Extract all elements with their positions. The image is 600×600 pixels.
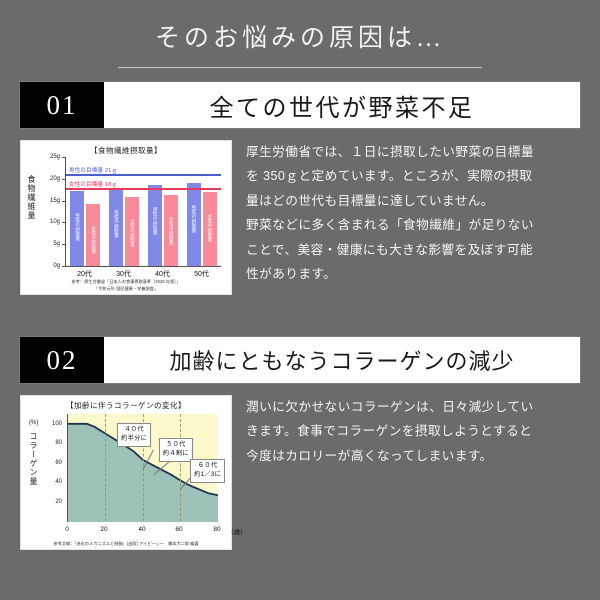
infographic-page: そのお悩みの原因は… 01 全ての世代が野菜不足 【食物繊維摂取量】 食物繊維量… <box>0 0 600 600</box>
bar-female-40s: 女性の摂取量 <box>164 195 178 266</box>
collagen-chart-plot: 100 80 60 40 20 ４０代 約半分に <box>67 414 217 522</box>
collagen-ytick-40: 40 <box>55 479 62 485</box>
collagen-xtick-40: 40 <box>138 526 145 533</box>
collagen-callout-50s-line1: ５０代 <box>163 441 189 450</box>
reference-line-female: 女性の目標量 18ｇ <box>66 188 221 190</box>
fiber-ytick-10: 10g <box>50 219 60 225</box>
collagen-ytick-100: 100 <box>52 421 62 427</box>
page-title: そのお悩みの原因は… <box>0 24 600 54</box>
reference-line-female-label: 女性の目標量 18ｇ <box>69 180 117 188</box>
collagen-yunit: (%) <box>29 420 38 426</box>
section-01-number: 01 <box>20 82 104 128</box>
bar-male-20s: 男性の摂取量 <box>70 191 84 266</box>
header-divider <box>118 67 482 68</box>
fiber-xtick-40s: 40代 <box>143 269 182 279</box>
fiber-ytick-5: 5g <box>53 241 60 247</box>
fiber-xtick-30s: 30代 <box>104 269 143 279</box>
fiber-ytick-15: 15g <box>50 198 60 204</box>
bar-label-male: 男性の摂取量 <box>75 213 80 241</box>
section-01-line-3: 量はどの世代も目標量に達していません。 <box>246 189 580 213</box>
collagen-chart-title: 【加齢に伴うコラーゲンの変化】 <box>21 400 231 411</box>
collagen-chart-ylabel: コラーゲン量 <box>29 432 37 486</box>
fiber-source-line2: 「令和元年 国民健康・栄養調査」 <box>21 286 231 292</box>
fiber-xtick-50s: 50代 <box>182 269 221 279</box>
section-01-text: 厚生労働省では、１日に摂取したい野菜の目標量 を 350ｇと定めています。ところ… <box>246 140 580 286</box>
section-01-line-4: 野菜などに多く含まれる「食物繊維」が足りない <box>246 213 580 237</box>
fiber-xtick-20s: 20代 <box>65 269 104 279</box>
section-01-heading: 01 全ての世代が野菜不足 <box>20 82 580 128</box>
section-02-line-1: 潤いに欠かせないコラーゲンは、日々減少してい <box>246 395 580 419</box>
collagen-callout-60s-line2: 約1／3に <box>194 471 221 480</box>
reference-line-male-label: 男性の目標量 21ｇ <box>69 166 117 174</box>
bar-female-50s: 女性の摂取量 <box>203 192 217 266</box>
section-01-line-6: 性があります。 <box>246 262 580 286</box>
section-02-text: 潤いに欠かせないコラーゲンは、日々減少してい きます。食事でコラーゲンを摂取しよ… <box>246 395 580 468</box>
collagen-dash-20 <box>105 414 106 521</box>
fiber-bar-group-40s: 男性の摂取量 女性の摂取量 <box>144 157 183 266</box>
reference-line-male: 男性の目標量 21ｇ <box>66 174 221 176</box>
collagen-xtick-60: 60 <box>175 526 182 533</box>
section-01-line-5: ことで、美容・健康にも大きな影響を及ぼす可能 <box>246 238 580 262</box>
section-01-title: 全ての世代が野菜不足 <box>104 82 580 128</box>
bar-label-male: 男性の摂取量 <box>191 205 196 233</box>
fiber-chart-plot: 0g 5g 10g 15g 20g 25g 男性の摂取量 女性の摂取量 <box>65 157 221 267</box>
bar-label-female: 女性の摂取量 <box>207 214 212 242</box>
bar-label-male: 男性の摂取量 <box>153 207 158 235</box>
collagen-ytick-80: 80 <box>55 440 62 446</box>
fiber-tickmark <box>62 266 66 267</box>
bar-male-40s: 男性の摂取量 <box>148 185 162 266</box>
collagen-xtick-20: 20 <box>100 526 107 533</box>
fiber-xaxis-labels: 20代 30代 40代 50代 <box>65 269 221 279</box>
bar-female-30s: 女性の摂取量 <box>125 197 139 266</box>
fiber-chart-source: 参考：厚生労働省「日本人の食事摂取基準（2020 年版）」 「令和元年 国民健康… <box>21 279 231 292</box>
section-01-body: 【食物繊維摂取量】 食物繊維量 0g 5g 10g 15g 20g 25g <box>20 140 580 295</box>
page-header: そのお悩みの原因は… <box>0 0 600 68</box>
collagen-callout-60s-line1: ６０代 <box>194 462 221 471</box>
section-02-title: 加齢にともなうコラーゲンの減少 <box>104 337 580 383</box>
bar-label-male: 男性の摂取量 <box>114 210 119 238</box>
section-01-line-1: 厚生労働省では、１日に摂取したい野菜の目標量 <box>246 140 580 164</box>
section-01-line-2: を 350ｇと定めています。ところが、実際の摂取 <box>246 164 580 188</box>
bar-label-female: 女性の摂取量 <box>130 219 135 247</box>
collagen-callout-60s: ６０代 約1／3に <box>190 459 225 483</box>
collagen-xtick-80: 80 <box>213 526 220 533</box>
fiber-intake-chart: 【食物繊維摂取量】 食物繊維量 0g 5g 10g 15g 20g 25g <box>20 140 232 295</box>
collagen-chart-source: 参考文献：「老化のメカニズムと制御」(出版) アイピーシー 橋本大二郎 編著 <box>21 541 231 547</box>
collagen-xtick-0: 0 <box>65 526 69 533</box>
collagen-decline-chart: 【加齢に伴うコラーゲンの変化】 (%) コラーゲン量 100 80 60 40 … <box>20 395 232 550</box>
bar-male-30s: 男性の摂取量 <box>109 188 123 266</box>
section-02-heading: 02 加齢にともなうコラーゲンの減少 <box>20 337 580 383</box>
bar-female-20s: 女性の摂取量 <box>86 204 100 266</box>
section-02-number: 02 <box>20 337 104 383</box>
collagen-ytick-20: 20 <box>55 499 62 505</box>
fiber-ytick-25: 25g <box>50 154 60 160</box>
fiber-ytick-0: 0g <box>53 263 60 269</box>
collagen-ytick-60: 60 <box>55 460 62 466</box>
fiber-bar-group-50s: 男性の摂取量 女性の摂取量 <box>182 157 221 266</box>
collagen-callout-50s: ５０代 約４割に <box>159 438 193 462</box>
collagen-callout-40s-line2: 約半分に <box>121 435 147 444</box>
bar-label-female: 女性の摂取量 <box>169 217 174 245</box>
collagen-callout-50s-line2: 約４割に <box>163 450 189 459</box>
fiber-chart-ylabel: 食物繊維量 <box>27 175 35 220</box>
section-02-line-3: 今度はカロリーが高くなってしまいます。 <box>246 444 580 468</box>
collagen-callout-40s: ４０代 約半分に <box>117 423 151 447</box>
bar-label-female: 女性の摂取量 <box>91 226 96 254</box>
collagen-xaxis-unit: （歳） <box>227 526 247 536</box>
collagen-callout-40s-line1: ４０代 <box>121 426 147 435</box>
section-02-body: 【加齢に伴うコラーゲンの変化】 (%) コラーゲン量 100 80 60 40 … <box>20 395 580 550</box>
bar-male-50s: 男性の摂取量 <box>187 183 201 266</box>
section-02-line-2: きます。食事でコラーゲンを摂取しようとすると <box>246 419 580 443</box>
collagen-dash-60 <box>180 414 181 521</box>
fiber-ytick-20: 20g <box>50 176 60 182</box>
